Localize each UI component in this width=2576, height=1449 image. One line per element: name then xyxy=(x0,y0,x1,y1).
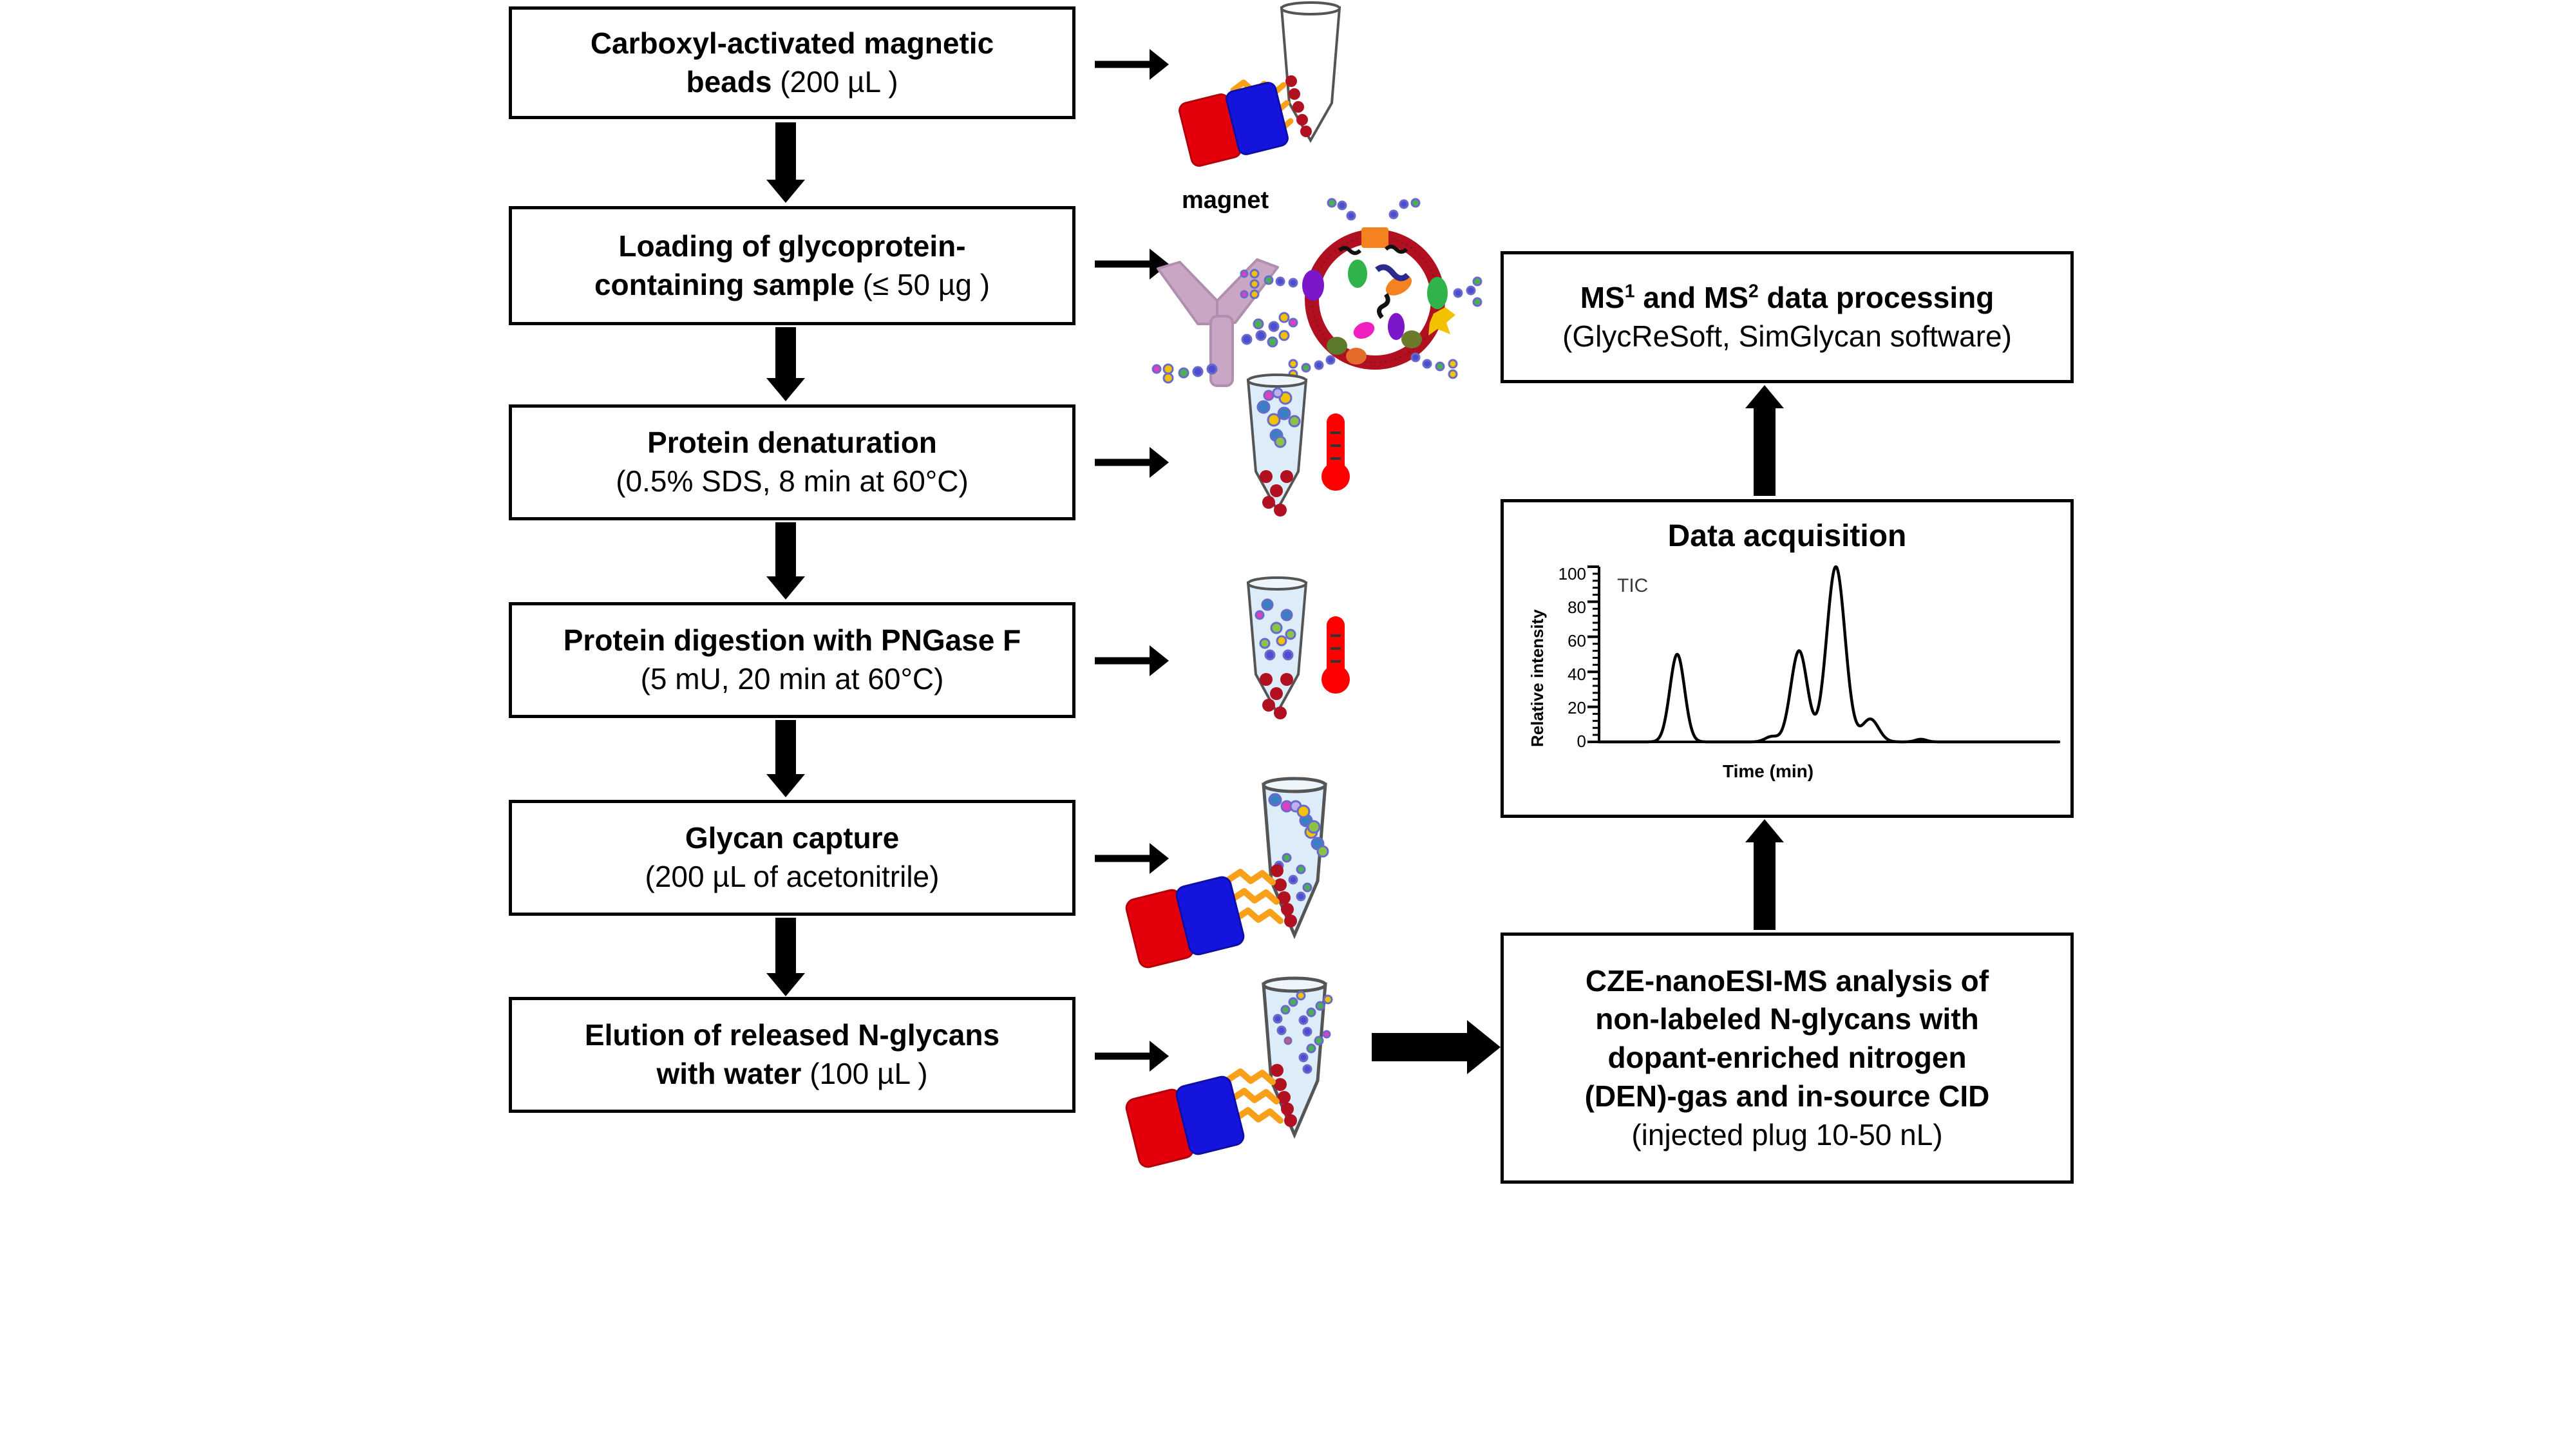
chart-xlabel: Time (min) xyxy=(1723,760,1814,783)
step-box-carboxyl-beads: Carboxyl-activated magnetic beads (200 µ… xyxy=(509,6,1075,119)
glycan-chain-icon xyxy=(1242,313,1297,346)
pointer-arrow-to-denaturation-illustration xyxy=(1095,444,1169,480)
flow-arrow-cze-to-acquisition xyxy=(1739,819,1790,930)
glycosylated-vesicle-icon xyxy=(1302,227,1455,365)
data-processing-detail: (GlycReSoft, SimGlycan software) xyxy=(1562,317,2012,356)
illustration-pngase-digestion xyxy=(1224,576,1468,744)
workflow-diagram: Carboxyl-activated magnetic beads (200 µ… xyxy=(0,0,2576,1449)
cze-line: (DEN)-gas and in-source CID xyxy=(1585,1077,1990,1116)
step-title: Protein denaturation xyxy=(647,424,937,462)
step-subtitle: with water (100 µL ) xyxy=(656,1055,927,1094)
tic-chart: Data acquisition Relative intensity 100 … xyxy=(1504,502,2070,815)
flow-arrow-3 xyxy=(760,522,811,600)
step-detail: (0.5% SDS, 8 min at 60°C) xyxy=(616,462,969,501)
step-title: Elution of released N-glycans xyxy=(585,1016,999,1055)
cze-line: non-labeled N-glycans with xyxy=(1595,1000,1979,1039)
step-box-protein-denaturation: Protein denaturation (0.5% SDS, 8 min at… xyxy=(509,404,1075,520)
step-detail: (5 mU, 20 min at 60°C) xyxy=(641,660,944,699)
thermometer-icon xyxy=(1321,413,1350,491)
step-title: Protein digestion with PNGase F xyxy=(563,621,1021,660)
magnet-icon xyxy=(1124,1075,1245,1169)
flow-arrow-2 xyxy=(760,327,811,401)
thermometer-icon xyxy=(1321,616,1350,694)
result-box-data-acquisition: Data acquisition Relative intensity 100 … xyxy=(1501,499,2074,818)
illustration-glycoprotein-sample xyxy=(1121,203,1481,396)
step-box-sample-loading: Loading of glycoprotein- containing samp… xyxy=(509,206,1075,325)
step-subtitle: beads (200 µL ) xyxy=(686,63,898,102)
step-box-glycan-capture: Glycan capture (200 µL of acetonitrile) xyxy=(509,800,1075,916)
step-title: Glycan capture xyxy=(685,819,899,858)
result-box-cze-analysis: CZE-nanoESI-MS analysis of non-labeled N… xyxy=(1501,933,2074,1184)
magnet-icon xyxy=(1124,875,1245,969)
data-processing-title: MS1 and MS2 data processing xyxy=(1580,279,1994,317)
step-title: Carboxyl-activated magnetic xyxy=(591,24,994,63)
cze-line: CZE-nanoESI-MS analysis of xyxy=(1586,962,1989,1001)
flow-arrow-acquisition-to-processing xyxy=(1739,385,1790,496)
magnet-icon xyxy=(1178,81,1289,167)
glycan-chain-icon xyxy=(1153,365,1217,383)
illustration-glycan-elution xyxy=(1121,972,1391,1217)
cze-detail: (injected plug 10-50 nL) xyxy=(1631,1116,1942,1155)
flow-arrow-4 xyxy=(760,720,811,797)
flow-arrow-5 xyxy=(760,918,811,996)
step-title: Loading of glycoprotein- xyxy=(618,227,965,266)
illustration-magnetic-beads-tube xyxy=(1117,0,1375,193)
step-subtitle: containing sample (≤ 50 µg ) xyxy=(594,266,990,305)
pointer-arrow-to-digestion-illustration xyxy=(1095,643,1169,679)
step-detail: (200 µL of acetonitrile) xyxy=(645,858,940,896)
step-box-pngase-digestion: Protein digestion with PNGase F (5 mU, 2… xyxy=(509,602,1075,718)
result-box-data-processing: MS1 and MS2 data processing (GlycReSoft,… xyxy=(1501,251,2074,383)
step-box-glycan-elution: Elution of released N-glycans with water… xyxy=(509,997,1075,1113)
flow-arrow-elution-to-cze xyxy=(1372,1018,1501,1077)
illustration-protein-denaturation xyxy=(1224,374,1468,541)
cze-line: dopant-enriched nitrogen xyxy=(1607,1039,1966,1077)
flow-arrow-1 xyxy=(760,122,811,203)
